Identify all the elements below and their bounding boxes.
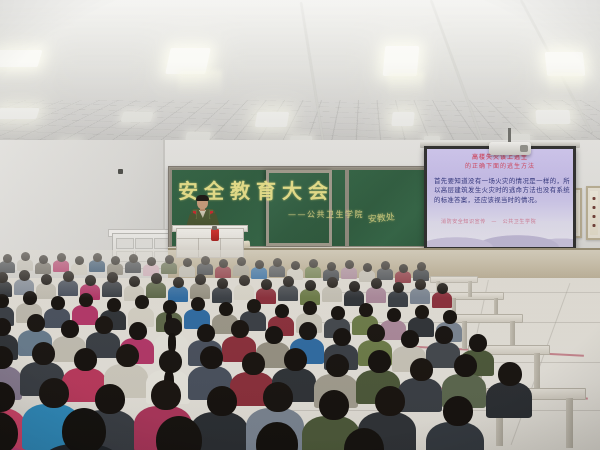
speaker-hair [196, 195, 209, 201]
fire-extinguisher-cap [212, 226, 217, 230]
audience-crowd [0, 250, 600, 450]
blackboard-subtitle: ——公共卫生学院 [288, 211, 364, 219]
slide-subtitle: 的正确下面的逃生方法 [465, 163, 535, 171]
slide-body-text: 首先要知道没有一场火灾的情况是一样的，所以高层建筑发生火灾时的逃命方法也没有系统… [434, 177, 570, 205]
wall-fixture [118, 169, 123, 174]
slide-title: 高楼失火该上逃生 [472, 154, 528, 162]
slide-footer: 消防安全知识宣传 — 公共卫生学院 [441, 219, 567, 225]
projection-screen: 高楼失火该上逃生 的正确下面的逃生方法 首先要知道没有一场火灾的情况是一样的，所… [424, 146, 576, 250]
projector-lens [520, 145, 528, 152]
fire-extinguisher-icon [211, 229, 219, 241]
lecture-hall-photo: 安全教育大会 ——公共卫生学院 安教处 高楼失火该上逃生 的正确下面的逃生方法 … [0, 0, 600, 450]
wall-scroll-frame [586, 186, 600, 240]
